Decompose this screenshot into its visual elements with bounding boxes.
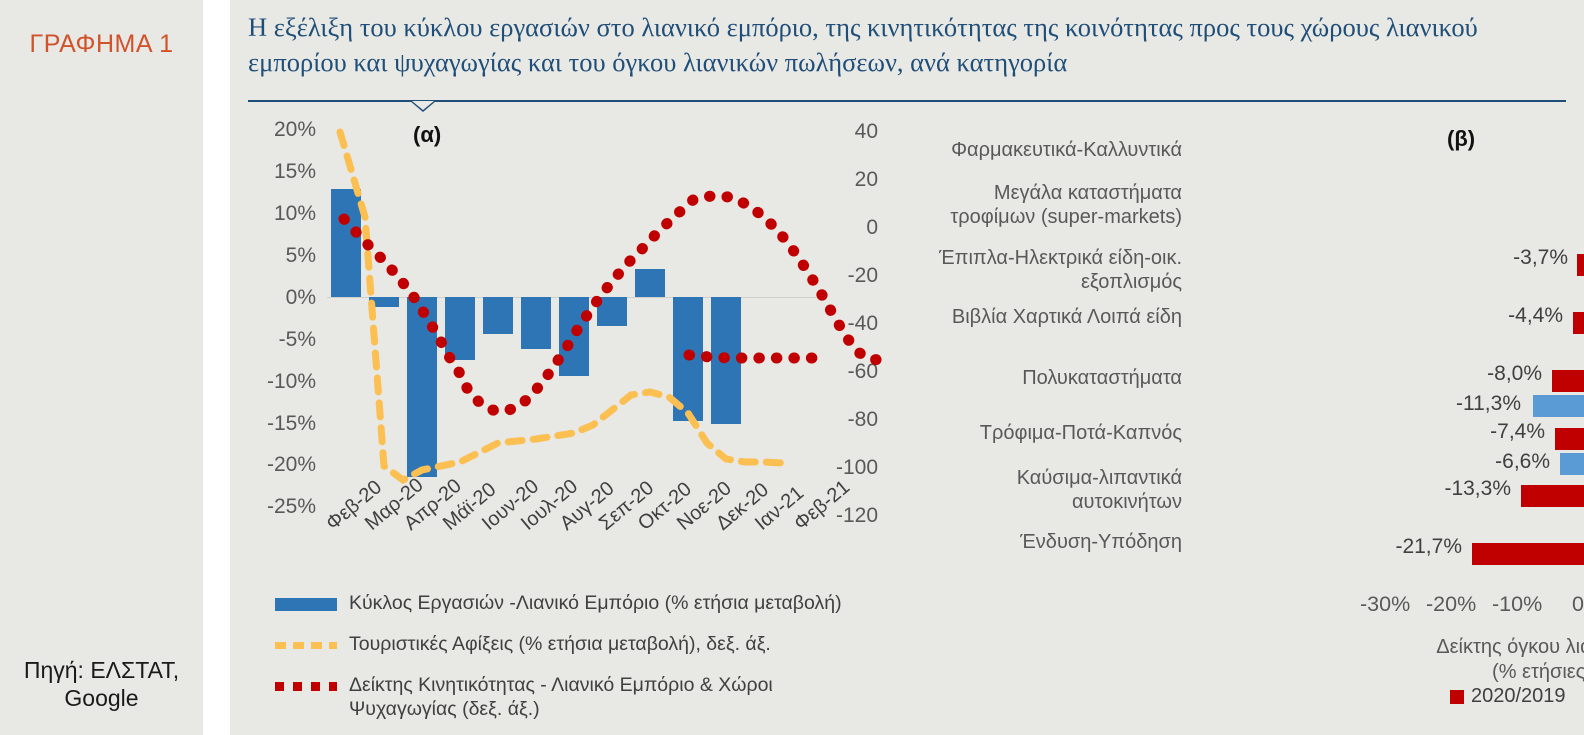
panel-b-xtick-2: -10% bbox=[1492, 592, 1542, 617]
hbar-blue-4 bbox=[1533, 395, 1584, 417]
dlabel-red-3: -4,4% bbox=[1425, 304, 1563, 328]
panel-b-xtick-0: -30% bbox=[1360, 592, 1410, 617]
chart-panel-b: (β) Φαρμακευτικά-Καλλυντικά Μεγάλα κατασ… bbox=[890, 0, 1584, 735]
dlabel-blue-5: -6,6% bbox=[1412, 450, 1550, 474]
panel-a-legend-label-1: Τουριστικές Αφίξεις (% ετήσια μεταβολή),… bbox=[349, 633, 771, 657]
dlabel-red-2: -3,7% bbox=[1430, 246, 1568, 270]
dotted-line-swatch-icon bbox=[275, 682, 337, 691]
mobility-index-line-tail bbox=[230, 0, 890, 560]
main-panel: Η εξέλιξη του κύκλου εργασιών στο λιανικ… bbox=[230, 0, 1584, 735]
dlabel-red-4: -8,0% bbox=[1404, 362, 1542, 386]
hbar-blue-5 bbox=[1560, 453, 1584, 475]
hbar-red-2 bbox=[1577, 254, 1584, 276]
panel-a-legend-item-turnover[interactable]: Κύκλος Εργασιών -Λιανικό Εμπόριο (% ετήσ… bbox=[275, 592, 842, 616]
red-square-icon bbox=[1450, 690, 1464, 704]
panel-b-legend-label-0: 2020/2019 bbox=[1471, 685, 1566, 708]
hbar-red-3 bbox=[1573, 312, 1584, 334]
panel-b-axis-caption: Δείκτης όγκου λιανικών πωλήσεων (% ετήσι… bbox=[1380, 635, 1584, 685]
bar-swatch-icon bbox=[275, 598, 337, 611]
panel-b-xtick-1: -20% bbox=[1426, 592, 1476, 617]
dlabel-red-7: -21,7% bbox=[1314, 535, 1462, 559]
panel-b-legend-item-2020[interactable]: 2020/2019 bbox=[1450, 685, 1566, 708]
panel-a-legend-label-2: Δείκτης Κινητικότητας - Λιανικό Εμπόριο … bbox=[349, 674, 773, 722]
dlabel-blue-4: -11,3% bbox=[1383, 392, 1521, 416]
hbar-red-4 bbox=[1552, 370, 1584, 392]
panel-b-xtick-3: 0% bbox=[1572, 592, 1584, 617]
left-rail: ΓΡΑΦΗΜΑ 1 Πηγή: ΕΛΣΤΑΤ, Google bbox=[0, 0, 203, 735]
hbar-red-5 bbox=[1555, 428, 1584, 450]
dlabel-red-6: -13,3% bbox=[1363, 477, 1511, 501]
source-note: Πηγή: ΕΛΣΤΑΤ, Google bbox=[0, 656, 203, 714]
dashed-line-swatch-icon bbox=[275, 642, 337, 649]
panel-a-legend-item-mobility[interactable]: Δείκτης Κινητικότητας - Λιανικό Εμπόριο … bbox=[275, 674, 773, 722]
slide-root: ΓΡΑΦΗΜΑ 1 Πηγή: ΕΛΣΤΑΤ, Google Η εξέλιξη… bbox=[0, 0, 1584, 735]
panel-a-legend-item-tourism[interactable]: Τουριστικές Αφίξεις (% ετήσια μεταβολή),… bbox=[275, 633, 771, 657]
hbar-red-7 bbox=[1472, 543, 1584, 565]
chart-panel-a: (α) 20% 15% 10% 5% 0% -5% -10% -15% -20%… bbox=[230, 0, 890, 735]
panel-a-plot bbox=[230, 0, 890, 560]
panel-a-legend-label-0: Κύκλος Εργασιών -Λιανικό Εμπόριο (% ετήσ… bbox=[349, 592, 842, 616]
figure-label: ΓΡΑΦΗΜΑ 1 bbox=[0, 30, 203, 59]
hbar-red-6 bbox=[1521, 485, 1584, 507]
panel-b-plot: 17,9% 0,8% 5,2% 1,2% -3,7% 7,0% -4,4% 9,… bbox=[890, 0, 1584, 600]
dlabel-red-5: -7,4% bbox=[1407, 420, 1545, 444]
